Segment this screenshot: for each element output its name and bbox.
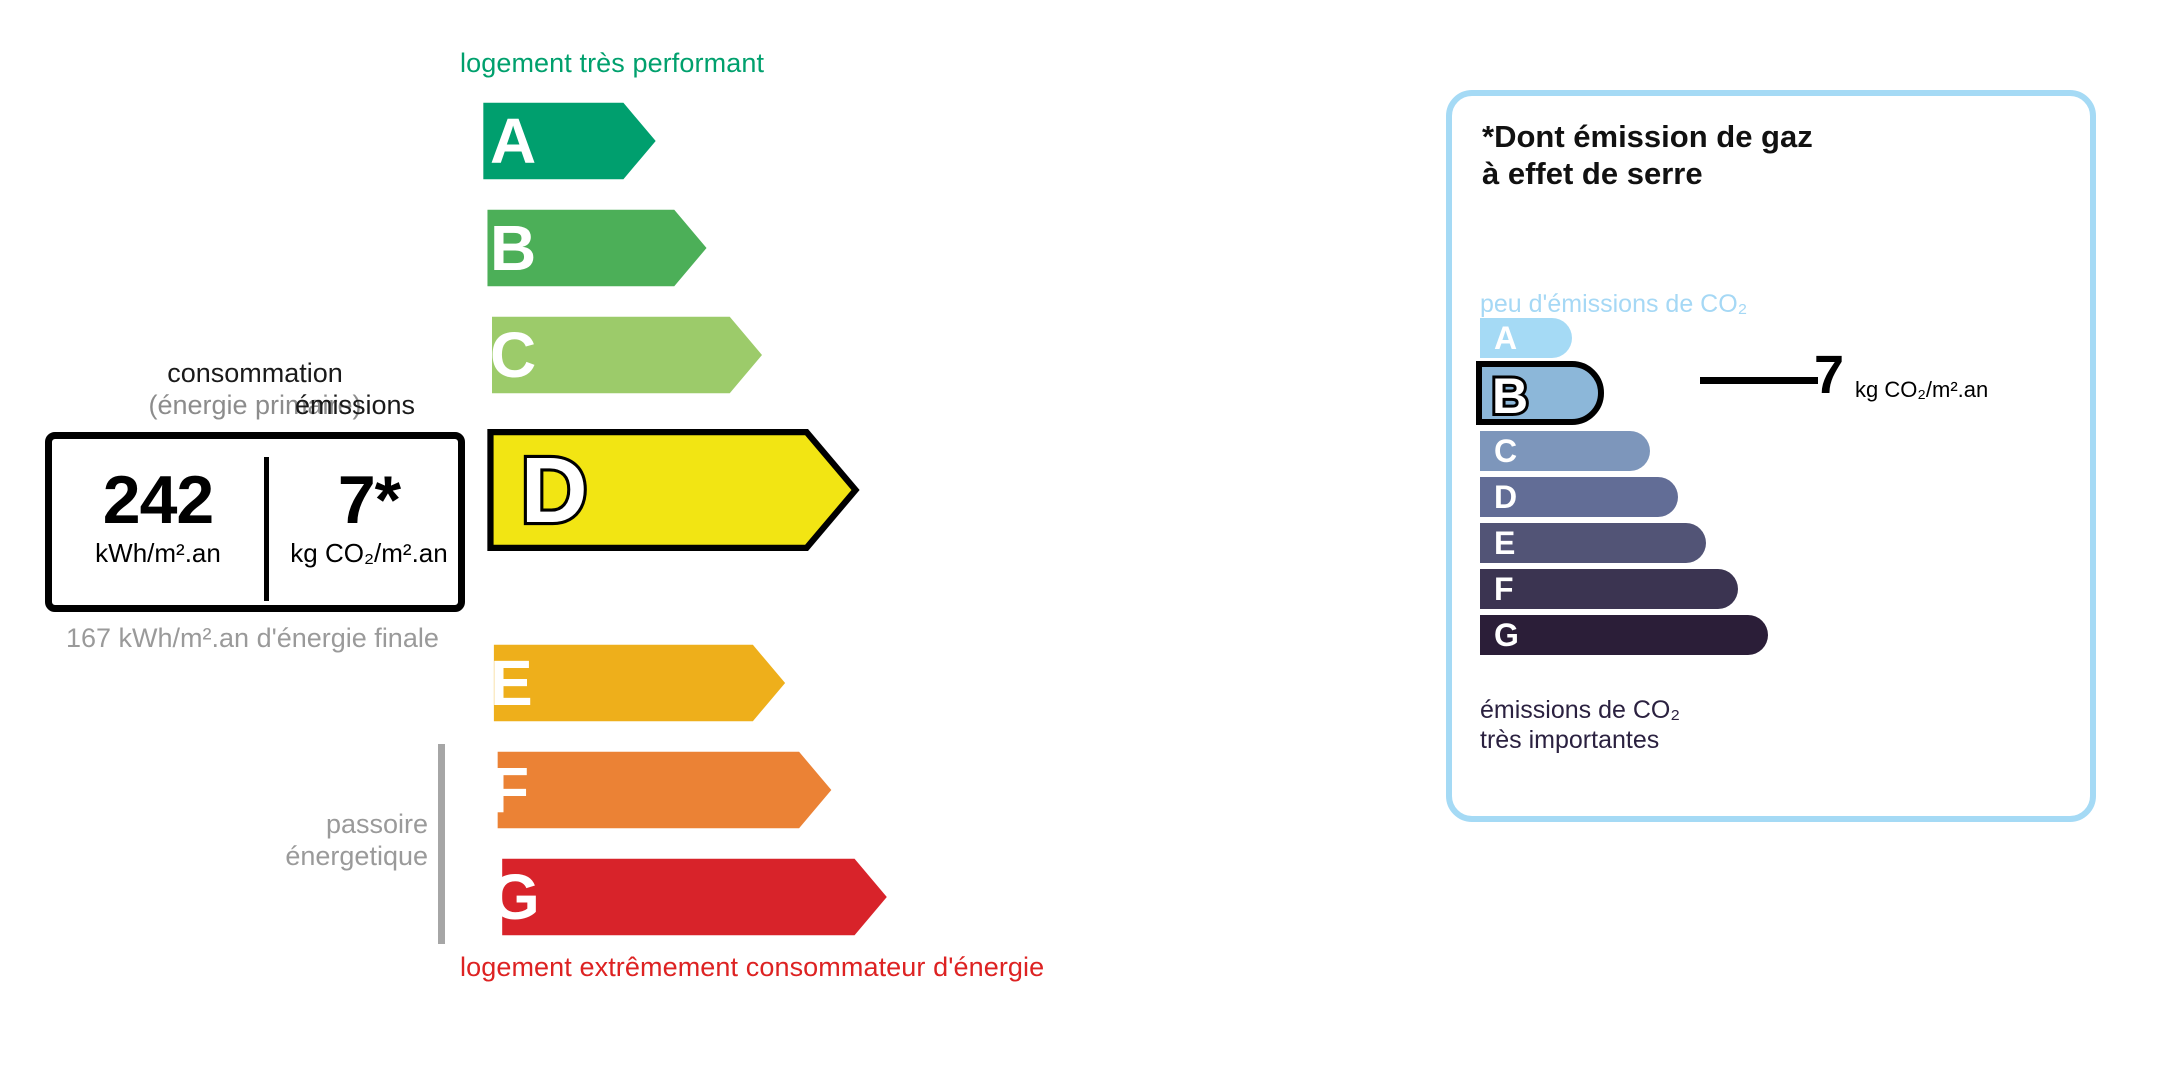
co2-bar-letter-c: C: [1494, 435, 1517, 467]
co2-bar-a: A: [1480, 318, 1572, 358]
co2-bar-letter-d: D: [1494, 481, 1517, 513]
co2-bar-letter-b: B: [1492, 368, 1528, 424]
final-energy-note: 167 kWh/m².an d'énergie finale: [66, 622, 439, 654]
energy-band-letter-f: F: [490, 758, 529, 822]
co2-emissions-panel: *Dont émission de gaz à effet de serre p…: [1446, 90, 2096, 822]
co2-unit: kg CO₂/m².an: [1855, 377, 1988, 403]
co2-bar-d: D: [1480, 477, 1678, 517]
co2-bar-letter-g: G: [1494, 619, 1519, 651]
energy-band-letter-c: C: [490, 323, 536, 387]
co2-bar-c: C: [1480, 431, 1650, 471]
consumption-unit: kWh/m².an: [58, 538, 258, 569]
co2-bottom-caption: émissions de CO₂ très importantes: [1480, 696, 1680, 755]
emissions-value: 7*: [274, 465, 464, 536]
consumption-value-cell: 242 kWh/m².an: [58, 465, 258, 569]
passoire-energetique-bracket: [438, 744, 445, 944]
co2-bar-e: E: [1480, 523, 1706, 563]
co2-bar-b: B: [1476, 361, 1604, 425]
energy-band-letter-a: A: [490, 109, 536, 173]
value-box-divider: [264, 457, 269, 601]
emissions-value-cell: 7* kg CO₂/m².an: [274, 465, 464, 569]
co2-value: 7: [1814, 348, 1844, 402]
energy-band-c: C: [460, 310, 794, 400]
emissions-unit: kg CO₂/m².an: [274, 538, 464, 569]
co2-bar-letter-e: E: [1494, 527, 1515, 559]
co2-bar-f: F: [1480, 569, 1738, 609]
energy-band-letter-e: E: [490, 651, 533, 715]
energy-scale-bottom-caption: logement extrêmement consommateur d'éner…: [460, 952, 1044, 983]
energy-band-e: E: [460, 638, 819, 728]
co2-panel-title: *Dont émission de gaz à effet de serre: [1482, 118, 1813, 192]
co2-bar-letter-a: A: [1494, 322, 1517, 354]
co2-bar-letter-f: F: [1494, 573, 1514, 605]
energy-scale-top-caption: logement très performant: [460, 48, 764, 79]
co2-top-caption: peu d'émissions de CO₂: [1480, 290, 1747, 319]
energy-band-letter-b: B: [490, 216, 536, 280]
energy-band-d: D: [460, 425, 886, 555]
energy-band-letter-g: G: [490, 865, 540, 929]
emissions-label: émissions: [295, 390, 415, 421]
energy-band-g: G: [460, 852, 929, 942]
energy-band-a: A: [460, 96, 679, 186]
consumption-value: 242: [58, 465, 258, 536]
energy-performance-scale: logement très performant ABCDEFG logemen…: [0, 0, 1300, 1079]
energy-band-f: F: [460, 745, 869, 835]
energy-band-b: B: [460, 203, 734, 293]
passoire-energetique-label: passoire énergetique: [210, 808, 428, 873]
co2-leader-line: [1700, 377, 1818, 384]
consumption-label-line1: consommation: [45, 358, 465, 390]
energy-band-arrow-d: D: [460, 425, 886, 555]
energy-band-letter-d: D: [521, 438, 588, 542]
value-box: 242 kWh/m².an 7* kg CO₂/m².an: [45, 432, 465, 612]
co2-bar-g: G: [1480, 615, 1768, 655]
co2-bar-letter-wrap-b: B: [1482, 367, 1610, 431]
